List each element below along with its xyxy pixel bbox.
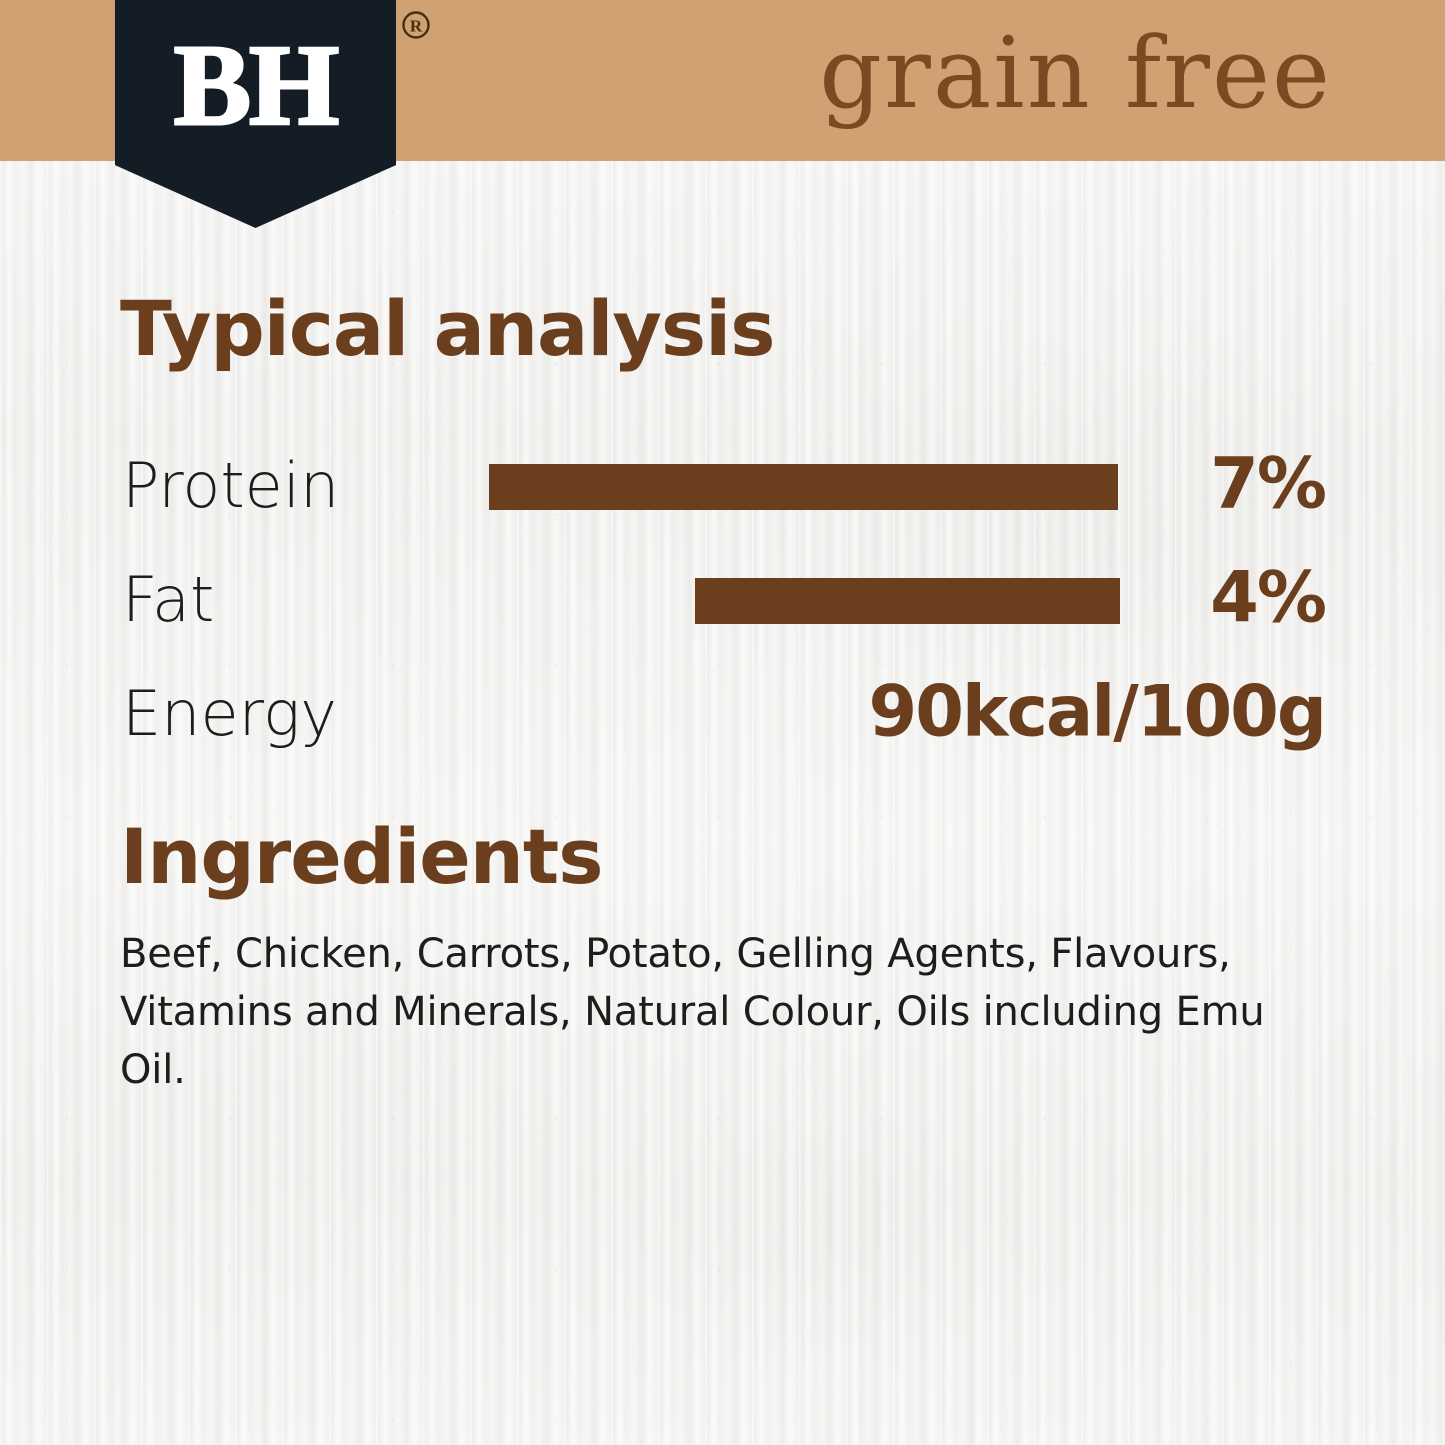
table-row: Protein 7%: [0, 430, 1445, 544]
svg-text:R: R: [410, 17, 423, 36]
ingredients-line-2: Vitamins and Minerals, Natural Colour, O…: [120, 983, 1330, 1099]
nutrient-value-fat: 4%: [1210, 557, 1325, 639]
ingredients-heading: Ingredients: [120, 812, 602, 901]
table-row: Energy 90kcal/100g: [0, 658, 1445, 772]
nutrient-label-protein: Protein: [122, 449, 339, 522]
product-label-panel: BH R grain free Typical analysis Protein…: [0, 0, 1445, 1445]
nutrient-value-energy: 90kcal/100g: [869, 671, 1325, 753]
nutrient-value-protein: 7%: [1210, 443, 1325, 525]
nutrient-bar-fat: [695, 578, 1120, 624]
nutrient-bar-protein: [489, 464, 1118, 510]
ingredients-text: Beef, Chicken, Carrots, Potato, Gelling …: [120, 925, 1330, 1099]
brand-initials: BH: [174, 28, 338, 144]
registered-trademark-icon: R: [401, 10, 431, 40]
table-row: Fat 4%: [0, 544, 1445, 658]
nutrient-label-energy: Energy: [122, 677, 337, 750]
tagline-grain-free: grain free: [819, 18, 1332, 131]
nutrient-label-fat: Fat: [122, 563, 214, 636]
typical-analysis-table: Protein 7% Fat 4% Energy 90kcal/100g: [0, 430, 1445, 772]
typical-analysis-heading: Typical analysis: [120, 284, 774, 373]
ingredients-line-1: Beef, Chicken, Carrots, Potato, Gelling …: [120, 925, 1330, 983]
